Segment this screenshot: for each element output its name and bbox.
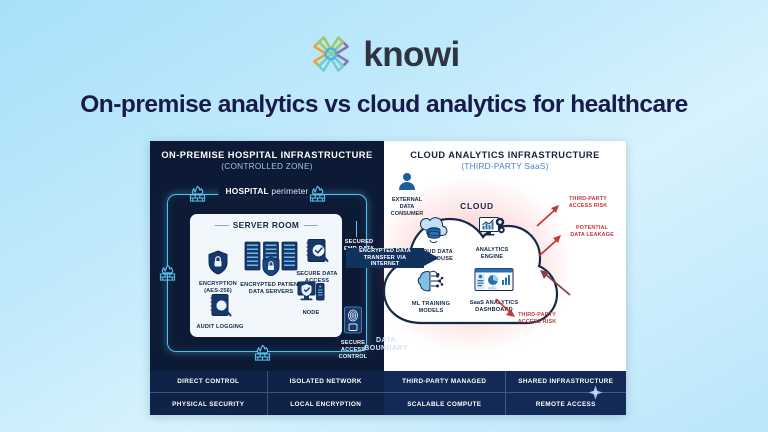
firewall-brick-flame-icon <box>188 185 207 203</box>
secure-data-access-item: SECURE DATAACCESS <box>294 238 340 285</box>
node-label: NODE <box>288 310 334 317</box>
shield-lock-icon <box>207 250 229 275</box>
risk-arrow-icon <box>536 267 574 299</box>
dashboard-browser-icon <box>474 267 514 294</box>
third-party-access-risk-label-1: THIRD-PARTYACCESS RISK <box>560 196 616 210</box>
footer-cell-direct-control: DIRECT CONTROL <box>150 371 268 392</box>
hospital-perimeter-label: HOSPITAL perimeter <box>218 186 315 196</box>
encrypted-transfer-label: ENCRYPTED DATATRANSFER VIA INTERNET <box>346 248 424 268</box>
page-title: On-premise analytics vs cloud analytics … <box>0 91 768 119</box>
cloud-panel: CLOUD ANALYTICS INFRASTRUCTURE (THIRD-PA… <box>384 141 626 415</box>
footer-cell-third-party-managed: THIRD-PARTY MANAGED <box>384 371 506 392</box>
footer-row: SCALABLE COMPUTE REMOTE ACCESS <box>384 393 626 415</box>
audit-logging-item: AUDIT LOGGING <box>196 293 244 331</box>
log-magnifier-icon <box>208 293 232 318</box>
firewall-brick-flame-icon <box>158 264 177 282</box>
knowi-starburst-logo-icon <box>308 31 354 77</box>
risk-arrow-icon <box>534 203 562 229</box>
ml-training-models-label: ML TRAININGMODELS <box>406 301 456 315</box>
audit-logging-label: AUDIT LOGGING <box>196 324 244 331</box>
on-premise-heading: ON-PREMISE HOSPITAL INFRASTRUCTURE <box>150 150 384 160</box>
desktop-monitor-shield-icon <box>297 280 325 304</box>
server-room-box: SERVER ROOM ENCRYPTION(AES-256) <box>190 214 342 337</box>
on-premise-header: ON-PREMISE HOSPITAL INFRASTRUCTURE (CONT… <box>150 141 384 171</box>
firewall-brick-flame-icon <box>308 185 327 203</box>
brand-logo: knowi <box>0 30 768 78</box>
ml-training-models-item: ML TRAININGMODELS <box>406 269 456 315</box>
comparison-diagram: ON-PREMISE HOSPITAL INFRASTRUCTURE (CONT… <box>150 141 626 415</box>
on-premise-panel: ON-PREMISE HOSPITAL INFRASTRUCTURE (CONT… <box>150 141 384 415</box>
cloud-header: CLOUD ANALYTICS INFRASTRUCTURE (THIRD-PA… <box>384 141 626 171</box>
monitor-gears-chart-icon <box>478 215 506 241</box>
footer-cell-local-encryption: LOCAL ENCRYPTION <box>268 393 385 415</box>
on-premise-footer: DIRECT CONTROL ISOLATED NETWORK PHYSICAL… <box>150 371 384 415</box>
emr-connector-line <box>356 221 357 237</box>
footer-row: PHYSICAL SECURITY LOCAL ENCRYPTION <box>150 393 384 415</box>
footer-row: DIRECT CONTROL ISOLATED NETWORK <box>150 371 384 393</box>
footer-cell-isolated-network: ISOLATED NETWORK <box>268 371 385 392</box>
node-item: NODE <box>288 280 334 317</box>
footer-cell-remote-access: REMOTE ACCESS <box>506 393 627 415</box>
document-magnifier-check-icon <box>304 238 330 265</box>
data-boundary-label: DATABOUNDARY <box>356 337 416 353</box>
encrypted-transfer-arrow: ENCRYPTED DATATRANSFER VIA INTERNET <box>346 245 438 271</box>
brand-name: knowi <box>363 37 459 72</box>
cloud-database-icon <box>419 217 449 243</box>
analytics-engine-item: ANALYTICSENGINE <box>468 215 516 261</box>
perimeter-label-rest: perimeter <box>269 186 309 196</box>
third-party-access-risk-label-2: THIRD-PARTYACCESS RISK <box>510 312 564 326</box>
server-room-title: SERVER ROOM <box>233 220 300 230</box>
right-arrow-icon <box>422 245 439 271</box>
firewall-brick-flame-icon <box>253 344 272 362</box>
fingerprint-scanner-icon <box>343 306 363 334</box>
footer-row: THIRD-PARTY MANAGED SHARED INFRASTRUCTUR… <box>384 371 626 393</box>
risk-arrow-icon <box>536 233 564 259</box>
encryption-item: ENCRYPTION(AES-256) <box>194 250 242 295</box>
analytics-engine-label: ANALYTICSENGINE <box>468 247 516 261</box>
server-rack-icon <box>243 240 299 276</box>
cloud-title: CLOUD <box>442 201 512 211</box>
page-header: knowi On-premise analytics vs cloud anal… <box>0 0 768 119</box>
cloud-heading: CLOUD ANALYTICS INFRASTRUCTURE <box>384 150 626 160</box>
footer-cell-scalable-compute: SCALABLE COMPUTE <box>384 393 506 415</box>
cloud-footer: THIRD-PARTY MANAGED SHARED INFRASTRUCTUR… <box>384 371 626 415</box>
perimeter-label-bold: HOSPITAL <box>225 186 268 196</box>
footer-cell-shared-infrastructure: SHARED INFRASTRUCTURE <box>506 371 627 392</box>
potential-data-leakage-label: POTENTIALDATA LEAKAGE <box>564 225 620 239</box>
footer-cell-physical-security: PHYSICAL SECURITY <box>150 393 268 415</box>
cloud-subheading: (THIRD-PARTY SaaS) <box>384 162 626 171</box>
on-premise-subheading: (CONTROLLED ZONE) <box>150 162 384 171</box>
brain-circuit-icon <box>416 269 446 295</box>
